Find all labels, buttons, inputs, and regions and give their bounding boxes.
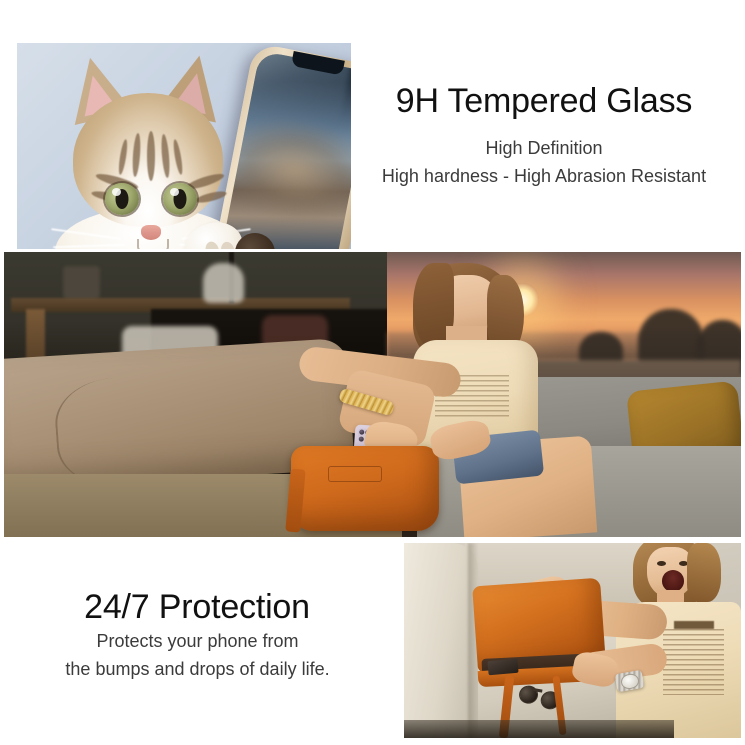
cat-stripe: [147, 131, 155, 181]
cat-stripe: [131, 133, 141, 177]
woman-placing-phone-in-bag-photo: [4, 252, 741, 537]
camera-lens: [359, 429, 364, 434]
cat-eye-right: [163, 183, 197, 215]
cat-stripe: [172, 139, 184, 175]
cat-stripe: [195, 189, 228, 205]
cat-touching-phone-photo: [17, 43, 351, 249]
tank-top-print-body: [663, 629, 724, 695]
cat-eye-highlight: [112, 188, 121, 196]
background-lamp: [203, 263, 244, 303]
cat-eye-highlight: [170, 188, 179, 196]
falling-wallet: [488, 659, 519, 675]
cat-eye-left: [105, 183, 139, 215]
cat-toe: [204, 240, 221, 249]
top-subtext-block: High Definition High hardness - High Abr…: [360, 135, 728, 191]
bottom-subline-2: the bumps and drops of daily life.: [30, 656, 365, 684]
woman-open-mouth: [662, 570, 684, 591]
cat-stripe: [117, 139, 129, 175]
woman-eye-left: [657, 561, 666, 566]
cat-toe: [219, 240, 236, 249]
handbag-pocket: [328, 466, 382, 482]
camera-lens: [358, 436, 363, 441]
bottom-subtext-block: Protects your phone from the bumps and d…: [30, 628, 365, 684]
top-subline-2: High hardness - High Abrasion Resistant: [360, 163, 728, 191]
chair-side-panel: [404, 543, 478, 738]
cat-figure: [59, 57, 274, 249]
background-vase: [63, 266, 100, 300]
top-text-block: 9H Tempered Glass: [371, 83, 717, 120]
orange-handbag: [291, 446, 438, 532]
cat-mouth: [137, 239, 169, 249]
cat-nose: [141, 225, 161, 240]
cat-head: [73, 93, 223, 227]
bottom-text-block: 24/7 Protection: [62, 589, 332, 626]
sunglasses-lens: [517, 683, 539, 705]
cat-stripe: [160, 134, 171, 178]
woman-dropping-bag-photo: [404, 543, 741, 738]
tank-top-print-title: [674, 621, 714, 629]
bottom-subline-1: Protects your phone from: [30, 628, 365, 656]
woman-hair-side: [687, 543, 721, 602]
page-title-tempered-glass: 9H Tempered Glass: [371, 83, 717, 120]
floor-shadow: [404, 720, 674, 738]
page-title-protection: 24/7 Protection: [62, 589, 332, 626]
top-subline-1: High Definition: [360, 135, 728, 163]
infographic-page: 9H Tempered Glass High Definition High h…: [0, 0, 745, 745]
